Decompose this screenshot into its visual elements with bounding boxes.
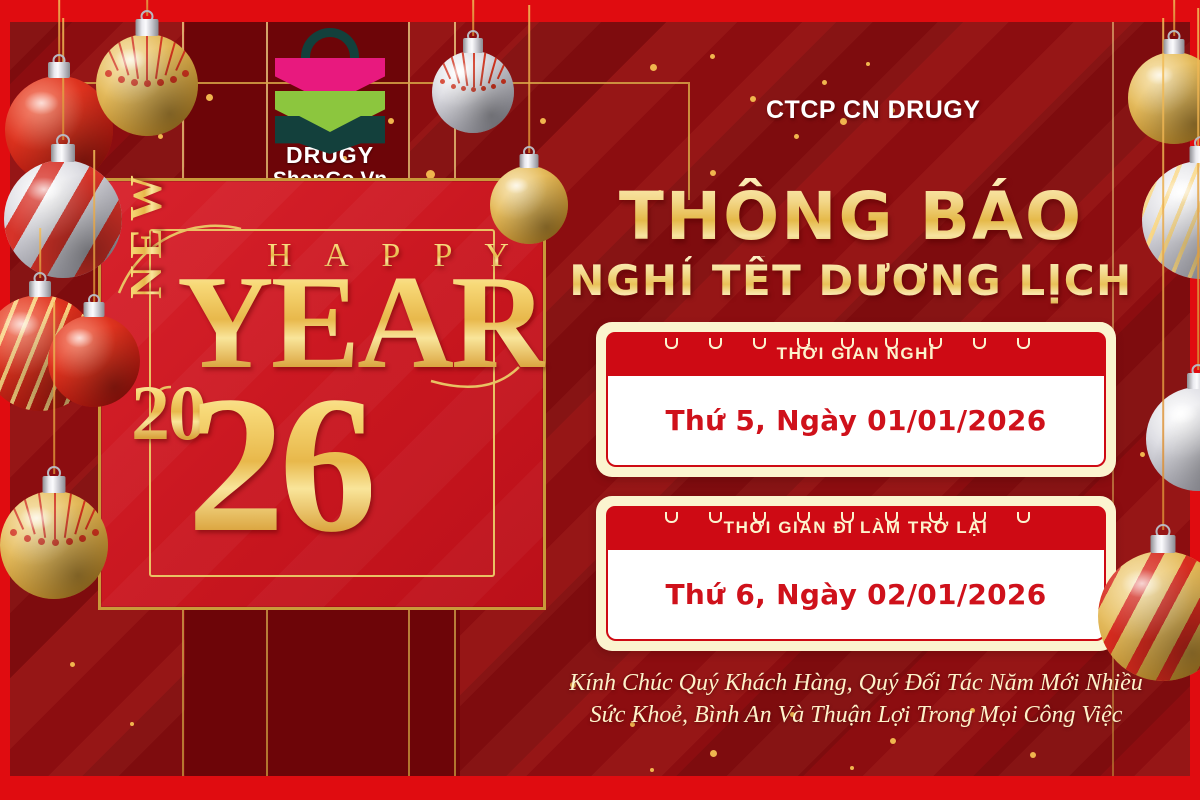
calendar-ring-icon: [1016, 332, 1027, 348]
ornament-ball: [4, 160, 122, 278]
bauble-silver-spiral-right: [1142, 130, 1200, 310]
shopping-bag-icon: [275, 28, 385, 140]
greeting-message: Kính Chúc Quý Khách Hàng, Quý Đối Tác Nă…: [566, 668, 1146, 731]
ornament-shading: [1146, 387, 1200, 491]
ornament-shading: [1098, 551, 1200, 681]
ornament-ball: [1098, 551, 1200, 681]
ornament-ball: [1142, 161, 1200, 279]
ornament-shading: [48, 315, 140, 407]
new-year-announcement-banner: DRUGY ShopGo.Vn NEW H A P P Y YEAR 20 26…: [0, 0, 1200, 800]
hny-typography: NEW H A P P Y YEAR 20 26: [101, 181, 543, 607]
ornament-shading: [4, 160, 122, 278]
confetti-dot: [650, 768, 654, 772]
bauble-gold-dotted-left-low: [0, 462, 108, 632]
logo-subtitle: ShopGo.Vn: [245, 168, 415, 178]
ornament-string: [62, 18, 64, 140]
happy-new-year-panel: NEW H A P P Y YEAR 20 26: [98, 178, 546, 610]
company-name: CTCP CN DRUGY: [766, 96, 980, 125]
ornament-string: [93, 150, 95, 302]
announcement-subtitle: NGHỈ TẾT DƯƠNG LỊCH: [556, 256, 1146, 305]
ornament-string: [1197, 8, 1199, 370]
brand-logo[interactable]: DRUGY ShopGo.Vn: [245, 28, 415, 178]
bauble-silver-plain-right-low: [1146, 358, 1200, 528]
hny-year-suffix: 26: [187, 367, 371, 563]
calendar-ring-icon: [752, 332, 763, 348]
ornament-string: [528, 5, 530, 153]
bauble-gold-plain-top-mid: [490, 140, 568, 270]
card-inner: THỜI GIAN ĐI LÀM TRỞ LẠI Thứ 6, Ngày 02/…: [606, 506, 1106, 641]
holiday-period-value: Thứ 5, Ngày 01/01/2026: [665, 404, 1046, 437]
calendar-ring-icon: [708, 506, 719, 522]
card-body: Thứ 5, Ngày 01/01/2026: [606, 376, 1106, 467]
holiday-period-label: THỜI GIAN NGHỈ: [777, 344, 936, 364]
ornament-string: [58, 0, 60, 62]
calendar-ring-icon: [1016, 506, 1027, 522]
ornament-string: [39, 228, 41, 278]
ornament-ball: [432, 51, 514, 133]
ornament-ball: [48, 315, 140, 407]
ornament-shading: [0, 491, 108, 599]
ornament-cap-icon: [29, 281, 51, 297]
confetti-dot: [710, 54, 715, 59]
confetti-dot: [130, 722, 134, 726]
return-to-work-card[interactable]: THỜI GIAN ĐI LÀM TRỞ LẠI Thứ 6, Ngày 02/…: [596, 496, 1116, 651]
ornament-cap-icon: [48, 62, 70, 78]
confetti-dot: [206, 94, 213, 101]
ornament-shading: [1142, 161, 1200, 279]
calendar-ring-icon: [664, 506, 675, 522]
ornament-cap-icon: [520, 154, 539, 168]
bauble-gold-striped-bottom-right: [1098, 518, 1200, 718]
ornament-ball: [0, 491, 108, 599]
ornament-ball: [96, 34, 198, 136]
ornament-string: [1162, 18, 1164, 530]
ornament-cap-icon: [136, 19, 159, 36]
ornament-shading: [490, 166, 568, 244]
confetti-dot: [70, 662, 75, 667]
ornament-cap-icon: [51, 144, 75, 162]
calendar-ring-icon: [972, 332, 983, 348]
ornament-cap-icon: [463, 38, 483, 53]
confetti-dot: [540, 118, 546, 124]
bauble-red-plain-left-mid: [48, 290, 140, 430]
announcement-column: CTCP CN DRUGY THÔNG BÁO NGHỈ TẾT DƯƠNG L…: [556, 60, 1156, 760]
holiday-period-card[interactable]: THỜI GIAN NGHỈ Thứ 5, Ngày 01/01/2026: [596, 322, 1116, 477]
bag-handle-arc: [301, 28, 359, 62]
calendar-ring-icon: [664, 332, 675, 348]
ornament-cap-icon: [1151, 535, 1176, 553]
ornament-shading: [96, 34, 198, 136]
ornament-string: [53, 302, 55, 474]
confetti-dot: [850, 766, 854, 770]
ornament-ball: [1146, 387, 1200, 491]
card-body: Thứ 6, Ngày 02/01/2026: [606, 550, 1106, 641]
ornament-cap-icon: [1190, 146, 1200, 163]
ornament-cap-icon: [1164, 39, 1185, 54]
card-header-bar: THỜI GIAN NGHỈ: [606, 332, 1106, 376]
ornament-cap-icon: [1187, 373, 1200, 389]
calendar-ring-icon: [708, 332, 719, 348]
ornament-shading: [432, 51, 514, 133]
ornament-ball: [490, 166, 568, 244]
ornament-cap-icon: [43, 476, 66, 493]
hny-new-text: NEW: [119, 168, 172, 299]
announcement-title: THÔNG BÁO: [556, 178, 1146, 255]
ornament-cap-icon: [84, 302, 105, 317]
card-inner: THỜI GIAN NGHỈ Thứ 5, Ngày 01/01/2026: [606, 332, 1106, 467]
return-to-work-value: Thứ 6, Ngày 02/01/2026: [665, 578, 1046, 611]
return-to-work-label: THỜI GIAN ĐI LÀM TRỞ LẠI: [724, 518, 989, 538]
card-header-bar: THỜI GIAN ĐI LÀM TRỞ LẠI: [606, 506, 1106, 550]
